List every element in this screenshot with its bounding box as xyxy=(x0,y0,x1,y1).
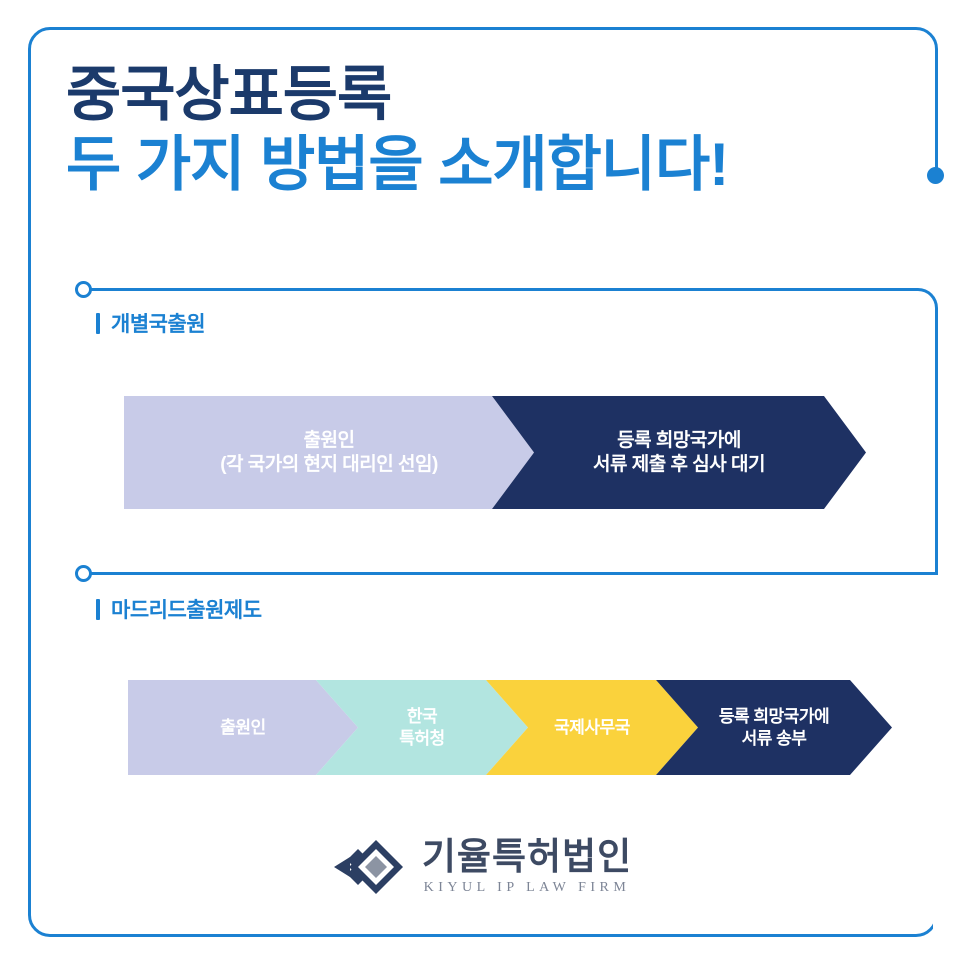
section-1-heading-bar-icon xyxy=(96,313,100,334)
section-2-node-icon xyxy=(75,565,92,582)
title-line-2: 두 가지 방법을 소개합니다! xyxy=(66,134,896,196)
frame-end-dot-icon xyxy=(927,167,944,184)
page-title: 중국상표등록 두 가지 방법을 소개합니다! xyxy=(66,64,896,197)
flow-2-step-4-line-1: 등록 희망국가에 xyxy=(719,706,829,727)
flow-1-step-1-line-1: 출원인 xyxy=(304,429,355,453)
flow-2-step-4-line-2: 서류 송부 xyxy=(742,728,807,749)
flow-1-step-1: 출원인 (각 국가의 현지 대리인 선임) xyxy=(124,396,534,509)
flow-2-step-1-line-1: 출원인 xyxy=(220,717,265,738)
section-2-heading-label: 마드리드출원제도 xyxy=(111,594,262,624)
flow-1-step-2: 등록 희망국가에 서류 제출 후 심사 대기 xyxy=(492,396,866,509)
company-logo: 기율특허법인 KIYUL IP LAW FIRM xyxy=(0,834,966,900)
infographic-canvas: 중국상표등록 두 가지 방법을 소개합니다! 개별국출원 출원인 (각 국가의 … xyxy=(0,0,966,966)
section-2-heading: 마드리드출원제도 xyxy=(96,594,262,624)
flow-2-step-2-line-1: 한국 xyxy=(407,706,437,727)
flow-individual-country: 출원인 (각 국가의 현지 대리인 선임) 등록 희망국가에 서류 제출 후 심… xyxy=(124,396,866,509)
kiyul-diamond-logo-icon xyxy=(334,834,408,900)
section-1-heading: 개별국출원 xyxy=(96,308,205,338)
title-line-1: 중국상표등록 xyxy=(66,64,896,126)
logo-company-subtitle: KIYUL IP LAW FIRM xyxy=(424,880,631,896)
section-1-divider-corner xyxy=(905,288,938,328)
section-1-right-wall xyxy=(935,320,938,575)
section-1-heading-label: 개별국출원 xyxy=(111,308,205,338)
flow-2-step-3-line-1: 국제사무국 xyxy=(554,717,630,738)
flow-1-step-2-line-1: 등록 희망국가에 xyxy=(617,429,741,453)
logo-text: 기율특허법인 KIYUL IP LAW FIRM xyxy=(422,838,632,896)
flow-madrid-system: 출원인 한국 특허청 국제사무국 등록 희망국가에 서류 송부 xyxy=(128,680,876,775)
flow-1-step-1-line-2: (각 국가의 현지 대리인 선임) xyxy=(220,453,438,477)
section-2-heading-bar-icon xyxy=(96,599,100,620)
flow-2-step-1: 출원인 xyxy=(128,680,358,775)
section-1-node-icon xyxy=(75,281,92,298)
section-1-divider xyxy=(88,288,909,291)
flow-2-step-2-line-2: 특허청 xyxy=(399,728,444,749)
logo-company-name: 기율특허법인 xyxy=(422,838,632,875)
flow-1-step-2-line-2: 서류 제출 후 심사 대기 xyxy=(593,453,765,477)
section-2-divider xyxy=(88,572,938,575)
